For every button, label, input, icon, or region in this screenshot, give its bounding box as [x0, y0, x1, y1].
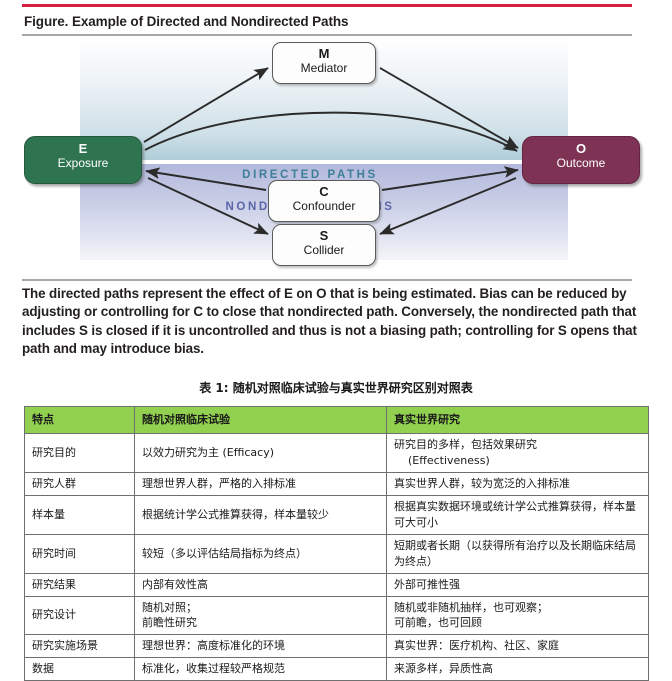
figure-header: Figure. Example of Directed and Nondirec… — [22, 0, 632, 36]
cell-rct: 随机对照； 前瞻性研究 — [135, 596, 387, 635]
node-confounder-label: Confounder — [269, 200, 379, 213]
cell-rct: 根据统计学公式推算获得，样本量较少 — [135, 495, 387, 534]
cell-feature: 研究时间 — [25, 534, 135, 573]
table-row: 研究设计 随机对照； 前瞻性研究 随机或非随机抽样，也可观察； 可前瞻，也可回顾 — [25, 596, 649, 635]
figure-title: Figure. Example of Directed and Nondirec… — [22, 7, 632, 34]
table-row: 研究人群 理想世界人群，严格的入排标准 真实世界人群，较为宽泛的入排标准 — [25, 472, 649, 495]
cell-rct-line2: 前瞻性研究 — [142, 616, 197, 629]
cell-rct: 以效力研究为主 (Efficacy) — [135, 434, 387, 473]
col-header-rws: 真实世界研究 — [387, 407, 649, 434]
col-header-rct: 随机对照临床试验 — [135, 407, 387, 434]
path-diagram: DIRECTED PATHS NONDIRECTED PATHS E Expos… — [0, 38, 672, 278]
node-exposure-letter: E — [25, 142, 141, 157]
node-mediator-letter: M — [273, 47, 375, 62]
table-row: 研究时间 较短（多以评估结局指标为终点） 短期或者长期（以获得所有治疗以及长期临… — [25, 534, 649, 573]
node-outcome-label: Outcome — [523, 157, 639, 170]
node-outcome-letter: O — [523, 142, 639, 157]
cell-feature: 研究结果 — [25, 573, 135, 596]
node-mediator[interactable]: M Mediator — [272, 42, 376, 84]
node-exposure-label: Exposure — [25, 157, 141, 170]
cell-feature: 样本量 — [25, 495, 135, 534]
table-row: 研究结果 内部有效性高 外部可推性强 — [25, 573, 649, 596]
arrow-e-to-m — [144, 68, 268, 142]
table-title: 表 1: 随机对照临床试验与真实世界研究区别对照表 — [0, 379, 672, 396]
cell-rws: 研究目的多样，包括效果研究 (Effectiveness) — [387, 434, 649, 473]
cell-rws: 外部可推性强 — [387, 573, 649, 596]
cell-rct: 内部有效性高 — [135, 573, 387, 596]
node-confounder[interactable]: C Confounder — [268, 180, 380, 222]
cell-rws: 根据真实数据环境或统计学公式推算获得，样本量可大可小 — [387, 495, 649, 534]
node-collider-label: Collider — [273, 244, 375, 257]
table-row: 研究实施场景 理想世界：高度标准化的环境 真实世界：医疗机构、社区、家庭 — [25, 635, 649, 658]
arrow-e-to-o — [145, 113, 517, 151]
cell-rws-line1: 随机或非随机抽样，也可观察； — [394, 601, 548, 614]
cell-feature: 研究实施场景 — [25, 635, 135, 658]
title-bottom-rule — [22, 34, 632, 36]
cell-rws: 真实世界人群，较为宽泛的入排标准 — [387, 472, 649, 495]
node-confounder-letter: C — [269, 185, 379, 200]
cell-rws-line1: 研究目的多样，包括效果研究 — [394, 438, 537, 451]
cell-rct: 较短（多以评估结局指标为终点） — [135, 534, 387, 573]
cell-rws-line2: 可前瞻，也可回顾 — [394, 616, 482, 629]
cell-feature: 研究人群 — [25, 472, 135, 495]
arrow-m-to-o — [380, 68, 518, 148]
node-mediator-label: Mediator — [273, 62, 375, 75]
table-row: 数据 标准化，收集过程较严格规范 来源多样，异质性高 — [25, 658, 649, 681]
cell-rct: 理想世界：高度标准化的环境 — [135, 635, 387, 658]
cell-feature: 研究设计 — [25, 596, 135, 635]
figure-caption: The directed paths represent the effect … — [22, 285, 638, 358]
cell-rct-line1: 随机对照； — [142, 601, 197, 614]
node-outcome[interactable]: O Outcome — [522, 136, 640, 184]
comparison-table: 特点 随机对照临床试验 真实世界研究 研究目的 以效力研究为主 (Efficac… — [24, 406, 649, 681]
cell-feature: 研究目的 — [25, 434, 135, 473]
node-collider[interactable]: S Collider — [272, 224, 376, 266]
cell-rws-line2: (Effectiveness) — [394, 454, 490, 467]
table-row: 样本量 根据统计学公式推算获得，样本量较少 根据真实数据环境或统计学公式推算获得… — [25, 495, 649, 534]
node-collider-letter: S — [273, 229, 375, 244]
cell-feature: 数据 — [25, 658, 135, 681]
cell-rws: 来源多样，异质性高 — [387, 658, 649, 681]
cell-rws: 真实世界：医疗机构、社区、家庭 — [387, 635, 649, 658]
caption-top-rule — [22, 279, 632, 281]
node-exposure[interactable]: E Exposure — [24, 136, 142, 184]
table-row: 研究目的 以效力研究为主 (Efficacy) 研究目的多样，包括效果研究 (E… — [25, 434, 649, 473]
table-header-row: 特点 随机对照临床试验 真实世界研究 — [25, 407, 649, 434]
cell-rws: 短期或者长期（以获得所有治疗以及长期临床结局为终点） — [387, 534, 649, 573]
cell-rct: 理想世界人群，严格的入排标准 — [135, 472, 387, 495]
cell-rct: 标准化，收集过程较严格规范 — [135, 658, 387, 681]
cell-rws: 随机或非随机抽样，也可观察； 可前瞻，也可回顾 — [387, 596, 649, 635]
col-header-feature: 特点 — [25, 407, 135, 434]
